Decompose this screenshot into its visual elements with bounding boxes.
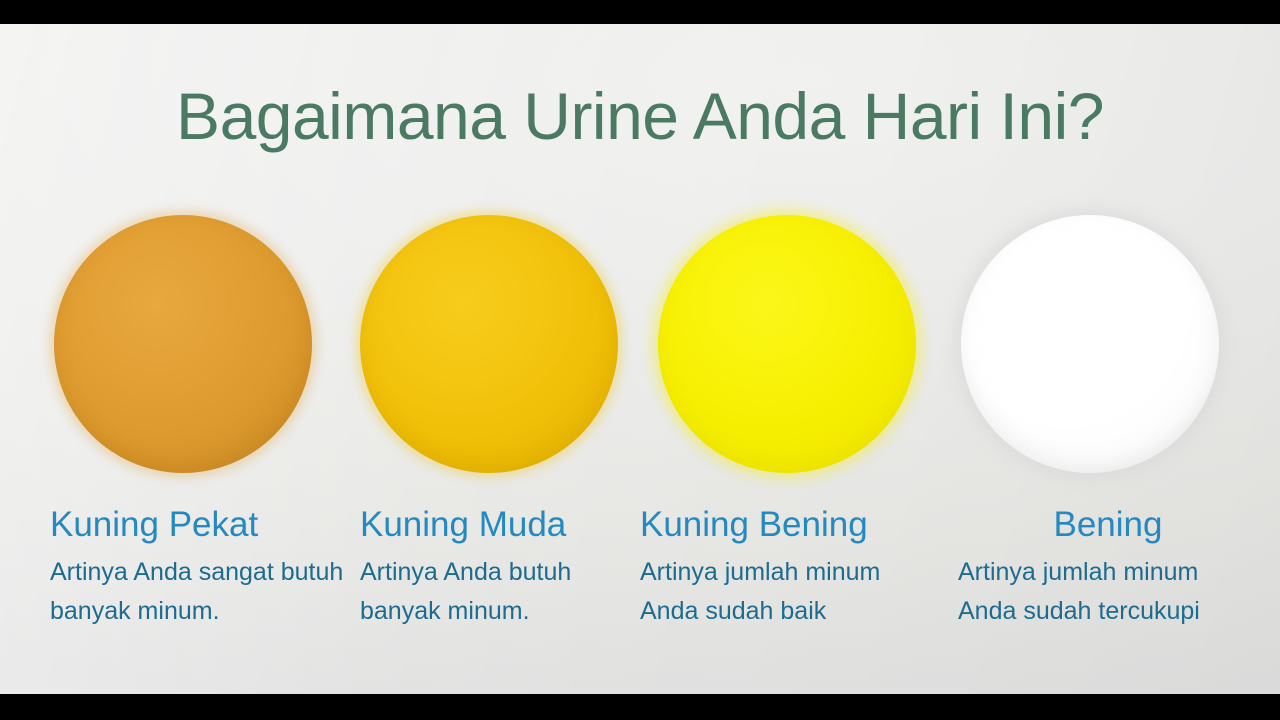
page-title: Bagaimana Urine Anda Hari Ini? (0, 82, 1280, 152)
letterbox-bar-top (0, 0, 1280, 24)
caption-title-kuning-bening: Kuning Bening (640, 506, 940, 544)
caption-bening: Bening Artinya jumlah minum Anda sudah t… (958, 506, 1258, 632)
caption-body-kuning-bening: Artinya jumlah minum Anda sudah baik (640, 553, 940, 632)
caption-kuning-muda: Kuning Muda Artinya Anda butuh banyak mi… (360, 506, 640, 632)
video-frame: Bagaimana Urine Anda Hari Ini? Kuning Pe… (0, 0, 1280, 720)
kuning-muda-swatch (360, 215, 618, 473)
caption-title-kuning-pekat: Kuning Pekat (50, 506, 350, 544)
kuning-pekat-swatch (54, 215, 312, 473)
urine-color-swatch-row (0, 215, 1280, 505)
kuning-bening-swatch (658, 215, 916, 473)
bening-swatch (961, 215, 1219, 473)
caption-kuning-bening: Kuning Bening Artinya jumlah minum Anda … (640, 506, 940, 632)
slide-canvas: Bagaimana Urine Anda Hari Ini? Kuning Pe… (0, 24, 1280, 694)
caption-body-kuning-pekat: Artinya Anda sangat butuh banyak minum. (50, 553, 350, 632)
caption-row: Kuning Pekat Artinya Anda sangat butuh b… (0, 506, 1280, 686)
caption-body-bening: Artinya jumlah minum Anda sudah tercukup… (958, 553, 1258, 632)
caption-title-bening: Bening (958, 506, 1258, 544)
letterbox-bar-bottom (0, 694, 1280, 720)
caption-kuning-pekat: Kuning Pekat Artinya Anda sangat butuh b… (50, 506, 350, 632)
caption-body-kuning-muda: Artinya Anda butuh banyak minum. (360, 553, 640, 632)
caption-title-kuning-muda: Kuning Muda (360, 506, 640, 544)
